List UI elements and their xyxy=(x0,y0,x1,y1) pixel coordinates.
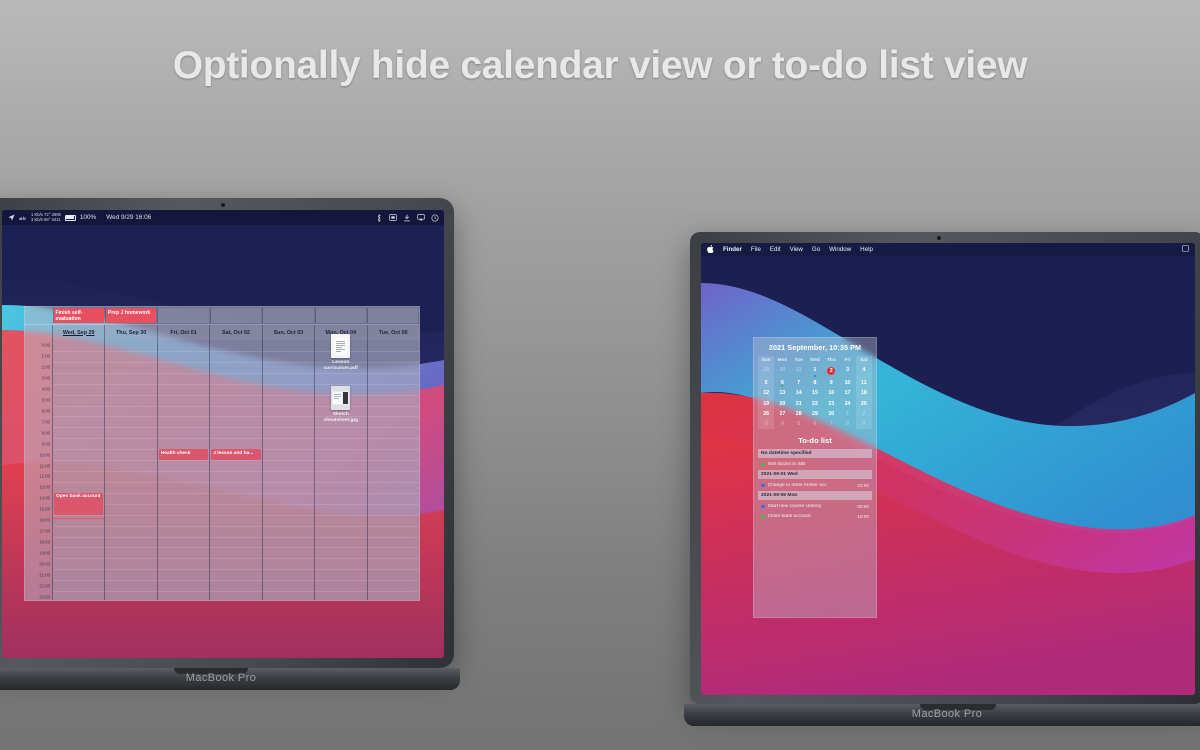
calendar-day-cell[interactable]: 5 xyxy=(758,378,774,388)
allday-cell[interactable] xyxy=(157,308,208,323)
hour-gridline xyxy=(210,395,261,396)
todo-status-dot xyxy=(761,463,765,467)
hour-gridline xyxy=(368,395,419,396)
hour-gridline xyxy=(263,384,314,385)
hour-gridline xyxy=(263,526,314,527)
hour-gridline xyxy=(53,362,104,363)
hour-gridline xyxy=(158,558,209,559)
allday-cell[interactable] xyxy=(315,308,366,323)
hour-gridline xyxy=(210,416,261,417)
calendar-day-cell[interactable]: 1 xyxy=(839,409,855,419)
hour-label: 4:00 xyxy=(42,387,50,392)
hour-gridline xyxy=(315,504,366,505)
calendar-day-cell[interactable]: 5 xyxy=(791,419,807,429)
todo-list-title: To-do list xyxy=(758,436,872,445)
left-macbook: 1 Kb/s 72° 3686 3 Kb/s 68° 3411 100% Wed… xyxy=(0,198,462,698)
hour-gridline xyxy=(368,384,419,385)
hour-label: 12:00 xyxy=(39,474,50,479)
todo-status-dot xyxy=(761,484,765,488)
calendar-day-cell[interactable]: 6 xyxy=(774,378,790,388)
hour-label: 3:00 xyxy=(42,376,50,381)
hour-gridline xyxy=(315,537,366,538)
calendar-column[interactable]: Lesson curriculum.pdf xyxy=(314,340,366,601)
hour-gridline xyxy=(105,471,156,472)
todo-label: Change to other broker acc xyxy=(768,483,855,488)
allday-cell[interactable] xyxy=(367,308,418,323)
image-file-icon xyxy=(331,386,350,410)
menubar-stats-line2: 3 Kb/s 68° 3411 xyxy=(31,218,61,223)
hour-gridline xyxy=(315,493,366,494)
hour-gridline xyxy=(315,384,366,385)
hour-gridline xyxy=(53,449,104,450)
day-header[interactable]: Tue, Oct 05 xyxy=(367,325,419,340)
hour-label: 6:00 xyxy=(42,408,50,413)
hour-gridline xyxy=(368,504,419,505)
attachment-sketch-cheatsheet[interactable]: Sketch cheatsheet.jpg xyxy=(317,386,364,424)
right-brand-label: MacBook Pro xyxy=(684,708,1200,720)
hour-gridline xyxy=(210,515,261,516)
calendar-day-cell[interactable]: 19 xyxy=(758,398,774,408)
hour-gridline xyxy=(263,362,314,363)
left-macbook-base: MacBook Pro xyxy=(0,668,460,690)
todo-section-header: No datetime specified xyxy=(758,449,872,458)
hour-gridline xyxy=(315,526,366,527)
calendar-day-cell[interactable]: 14 xyxy=(791,388,807,398)
menu-finder[interactable]: Finder xyxy=(723,246,742,253)
hour-label: 5:00 xyxy=(42,398,50,403)
hour-gridline xyxy=(210,537,261,538)
calendar-day-cell[interactable]: 31 xyxy=(791,365,807,377)
hour-gridline xyxy=(158,537,209,538)
attachment-lesson-curriculum[interactable]: Lesson curriculum.pdf xyxy=(317,334,364,372)
hour-gridline xyxy=(158,460,209,461)
hour-gridline xyxy=(53,438,104,439)
menu-help[interactable]: Help xyxy=(860,246,873,253)
hour-label: 14:00 xyxy=(39,496,50,501)
mini-calendar[interactable]: SunMonTueWedThuFriSat2930311234567891011… xyxy=(758,356,872,429)
hour-gridline xyxy=(158,493,209,494)
hour-gridline xyxy=(315,449,366,450)
hour-gridline xyxy=(53,558,104,559)
hour-gridline xyxy=(210,493,261,494)
hour-gridline xyxy=(368,493,419,494)
calendar-day-cell[interactable]: 16 xyxy=(823,388,839,398)
hour-gridline xyxy=(158,416,209,417)
hour-label: 10:00 xyxy=(39,452,50,457)
calendar-day-cell[interactable]: 2 xyxy=(823,365,839,377)
hour-gridline xyxy=(105,558,156,559)
allday-event[interactable]: Finish self-evaluation xyxy=(54,308,104,323)
left-macbook-lid: 1 Kb/s 72° 3686 3 Kb/s 68° 3411 100% Wed… xyxy=(0,198,454,668)
hour-gridline xyxy=(210,558,261,559)
attachment-label: Lesson curriculum.pdf xyxy=(317,360,364,372)
hour-label: 8:00 xyxy=(42,430,50,435)
calendar-day-cell[interactable]: 1 xyxy=(807,365,823,377)
calendar-column[interactable]: Health check xyxy=(157,340,209,601)
calendar-column[interactable]: J lesson and ha... xyxy=(209,340,261,601)
hour-gridline xyxy=(210,384,261,385)
calendar-day-cell[interactable]: 30 xyxy=(823,409,839,419)
calendar-day-cell[interactable]: 28 xyxy=(791,409,807,419)
hour-gridline xyxy=(210,591,261,592)
calendar-day-cell[interactable]: 24 xyxy=(839,398,855,408)
hour-gridline xyxy=(368,515,419,516)
hour-gridline xyxy=(368,449,419,450)
hour-label: 16:00 xyxy=(39,518,50,523)
left-screen: 1 Kb/s 72° 3686 3 Kb/s 68° 3411 100% Wed… xyxy=(2,210,444,658)
calendar-column[interactable] xyxy=(262,340,314,601)
allday-cell[interactable] xyxy=(262,308,313,323)
hour-gridline xyxy=(263,547,314,548)
allday-cell[interactable] xyxy=(210,308,261,323)
hour-gridline xyxy=(368,351,419,352)
hour-label: 1:00 xyxy=(42,354,50,359)
hour-gridline xyxy=(263,515,314,516)
hour-gridline xyxy=(158,580,209,581)
hour-gridline xyxy=(315,373,366,374)
todo-time: 10:00 xyxy=(857,514,869,519)
calendar-day-cell[interactable]: 3 xyxy=(839,365,855,377)
hour-gridline xyxy=(210,438,261,439)
hour-gridline xyxy=(105,493,156,494)
hour-label: 11:00 xyxy=(40,463,50,468)
calendar-day-cell[interactable]: 20 xyxy=(774,398,790,408)
calendar-day-cell[interactable]: 10 xyxy=(839,378,855,388)
download-icon[interactable] xyxy=(403,214,411,222)
hour-gridline xyxy=(263,482,314,483)
calendar-day-cell[interactable]: 23 xyxy=(823,398,839,408)
calendar-day-cell[interactable]: 26 xyxy=(758,409,774,419)
panel-month-title: 2021 September, 10:35 PM xyxy=(758,343,872,352)
hour-gridline xyxy=(53,395,104,396)
weekday-header: Sun xyxy=(758,356,774,365)
calendar-day-cell[interactable]: 9 xyxy=(823,378,839,388)
hour-label: 13:00 xyxy=(39,485,50,490)
hour-gridline xyxy=(105,395,156,396)
location-arrow-icon xyxy=(7,214,15,222)
todo-item[interactable]: Start new course Udemy00:00 xyxy=(758,502,872,511)
hour-gridline xyxy=(263,591,314,592)
hour-label: 18:00 xyxy=(39,539,50,544)
hour-gridline xyxy=(53,373,104,374)
hour-gridline xyxy=(158,471,209,472)
hour-gridline xyxy=(368,460,419,461)
hour-gridline xyxy=(158,482,209,483)
hour-gridline xyxy=(158,427,209,428)
hour-gridline xyxy=(368,406,419,407)
hour-gridline xyxy=(210,427,261,428)
hour-gridline xyxy=(315,591,366,592)
hour-gridline xyxy=(368,362,419,363)
hour-label: 9:00 xyxy=(42,441,50,446)
hour-gridline xyxy=(158,351,209,352)
hour-label: 20:00 xyxy=(39,561,50,566)
hour-gridline xyxy=(53,580,104,581)
event-j-lesson[interactable]: J lesson and ha... xyxy=(211,449,260,460)
weekday-header: Mon xyxy=(774,356,790,365)
hour-gridline xyxy=(210,504,261,505)
hour-gridline xyxy=(105,351,156,352)
hour-gridline xyxy=(210,547,261,548)
hour-gridline xyxy=(263,471,314,472)
calendar-day-cell[interactable]: 15 xyxy=(807,388,823,398)
calendar-day-cell[interactable]: 7 xyxy=(791,378,807,388)
hour-label: 23:00 xyxy=(39,594,50,599)
hour-gridline xyxy=(158,504,209,505)
hour-gridline xyxy=(263,351,314,352)
hour-gridline xyxy=(53,416,104,417)
stats-graph-icon xyxy=(19,214,27,222)
day-header[interactable]: Fri, Oct 01 xyxy=(157,325,209,340)
calendar-day-cell[interactable]: 25 xyxy=(856,398,872,408)
hour-gridline xyxy=(210,362,261,363)
todo-list[interactable]: No datetime specifiedSell stocks in SBI2… xyxy=(758,449,872,521)
todo-section-header: 2021-09-01 Wed xyxy=(758,470,872,479)
todo-item[interactable]: Sell stocks in SBI xyxy=(758,460,872,469)
day-header[interactable]: Sun, Oct 03 xyxy=(262,325,314,340)
calendar-day-cell[interactable]: 30 xyxy=(774,365,790,377)
hour-gridline xyxy=(315,547,366,548)
calendar-day-cell[interactable]: 18 xyxy=(856,388,872,398)
hour-gridline xyxy=(315,558,366,559)
hour-gridline xyxy=(158,526,209,527)
calendar-column[interactable]: Open bank account xyxy=(52,340,104,601)
hour-gridline xyxy=(53,537,104,538)
hour-label: 7:00 xyxy=(42,419,50,424)
right-screen: Finder File Edit View Go Window Help 202… xyxy=(701,243,1195,695)
hour-gridline xyxy=(263,449,314,450)
hour-gridline xyxy=(105,460,156,461)
hour-gridline xyxy=(210,406,261,407)
hour-gridline xyxy=(315,471,366,472)
hour-gridline xyxy=(263,580,314,581)
calendar-day-cell[interactable]: 27 xyxy=(774,409,790,419)
hour-gridline xyxy=(315,438,366,439)
hour-gridline xyxy=(105,537,156,538)
hour-gridline xyxy=(105,591,156,592)
calendar-day-cell[interactable]: 17 xyxy=(839,388,855,398)
hour-gridline xyxy=(315,460,366,461)
hour-gridline xyxy=(158,395,209,396)
calendar-day-cell[interactable]: 8 xyxy=(807,378,823,388)
right-macbook-base: MacBook Pro xyxy=(684,704,1200,726)
day-header[interactable]: Wed, Sep 29 xyxy=(52,325,104,340)
hour-gridline xyxy=(105,547,156,548)
calendar-day-cell[interactable]: 9 xyxy=(856,419,872,429)
event-open-bank-account[interactable]: Open bank account xyxy=(54,493,103,515)
control-center-icon[interactable] xyxy=(1182,245,1189,254)
hour-gridline xyxy=(105,373,156,374)
calendar-window[interactable]: Finish self-evaluation Prep J homework W… xyxy=(24,306,420,601)
hour-gridline xyxy=(263,427,314,428)
allday-cell[interactable]: Finish self-evaluation xyxy=(53,308,104,323)
hour-gridline xyxy=(105,515,156,516)
hour-gridline xyxy=(53,591,104,592)
hour-gridline xyxy=(315,580,366,581)
hour-gridline xyxy=(210,526,261,527)
calendar-time-axis: 0:001:002:003:004:005:006:007:008:009:00… xyxy=(25,340,52,601)
calendar-day-cell[interactable]: 8 xyxy=(839,419,855,429)
day-header[interactable]: Thu, Sep 30 xyxy=(104,325,156,340)
weekday-header: Sat xyxy=(856,356,872,365)
calendar-day-cell[interactable]: 4 xyxy=(774,419,790,429)
hour-gridline xyxy=(210,373,261,374)
hour-gridline xyxy=(105,438,156,439)
hour-gridline xyxy=(315,569,366,570)
hour-gridline xyxy=(315,515,366,516)
calendar-day-cell[interactable]: 22 xyxy=(807,398,823,408)
hour-gridline xyxy=(105,362,156,363)
hour-gridline xyxy=(105,416,156,417)
hour-gridline xyxy=(53,547,104,548)
menu-edit[interactable]: Edit xyxy=(770,246,781,253)
page-title: Optionally hide calendar view or to-do l… xyxy=(0,44,1200,88)
hour-gridline xyxy=(368,471,419,472)
hour-gridline xyxy=(368,427,419,428)
allday-cell[interactable]: Prep J homework xyxy=(105,308,156,323)
airplay-icon[interactable] xyxy=(417,214,425,222)
hour-gridline xyxy=(158,515,209,516)
hour-gridline xyxy=(210,569,261,570)
todo-item[interactable]: Change to other broker acc22:00 xyxy=(758,481,872,490)
hour-gridline xyxy=(105,526,156,527)
event-health-check[interactable]: Health check xyxy=(159,449,208,460)
calendar-day-cell[interactable]: 11 xyxy=(856,378,872,388)
hour-gridline xyxy=(210,471,261,472)
hour-gridline xyxy=(53,460,104,461)
hour-label: 17:00 xyxy=(39,529,50,534)
hour-gridline xyxy=(105,569,156,570)
hour-gridline xyxy=(210,351,261,352)
hour-gridline xyxy=(53,569,104,570)
hour-gridline xyxy=(53,427,104,428)
hour-gridline xyxy=(368,537,419,538)
hour-gridline xyxy=(368,569,419,570)
todo-label: Close bank account xyxy=(768,514,855,519)
todo-status-dot xyxy=(761,505,765,509)
hour-gridline xyxy=(263,537,314,538)
hour-gridline xyxy=(368,580,419,581)
calendar-column[interactable] xyxy=(104,340,156,601)
todo-label: Start new course Udemy xyxy=(768,504,855,509)
hour-gridline xyxy=(210,460,261,461)
right-macbook: Finder File Edit View Go Window Help 202… xyxy=(690,232,1200,732)
hour-gridline xyxy=(105,449,156,450)
hour-gridline xyxy=(105,580,156,581)
left-brand-label: MacBook Pro xyxy=(0,672,460,684)
bluetooth-icon[interactable] xyxy=(375,214,383,222)
hour-gridline xyxy=(53,406,104,407)
todo-panel[interactable]: 2021 September, 10:35 PM SunMonTueWedThu… xyxy=(753,337,877,618)
hour-label: 0:00 xyxy=(42,343,50,348)
hour-gridline xyxy=(158,547,209,548)
camera-icon xyxy=(221,203,225,207)
hour-gridline xyxy=(263,373,314,374)
hour-gridline xyxy=(368,438,419,439)
hour-gridline xyxy=(263,438,314,439)
calendar-day-cell[interactable]: 13 xyxy=(774,388,790,398)
hour-gridline xyxy=(158,438,209,439)
hour-gridline xyxy=(368,526,419,527)
right-menubar: Finder File Edit View Go Window Help xyxy=(701,243,1195,256)
hour-label: 2:00 xyxy=(42,365,50,370)
hour-gridline xyxy=(368,482,419,483)
todo-label: Sell stocks in SBI xyxy=(768,462,866,467)
weekday-header: Wed xyxy=(807,356,823,365)
hour-label: 22:00 xyxy=(39,583,50,588)
control-center-icon[interactable] xyxy=(431,214,439,222)
calendar-day-cell[interactable]: 6 xyxy=(807,419,823,429)
menu-window[interactable]: Window xyxy=(829,246,851,253)
apple-menu-icon[interactable] xyxy=(707,245,714,255)
hour-gridline xyxy=(53,515,104,516)
weekday-header: Thu xyxy=(823,356,839,365)
hour-gridline xyxy=(315,427,366,428)
calendar-day-cell[interactable]: 21 xyxy=(791,398,807,408)
calendar-column[interactable] xyxy=(367,340,419,601)
display-icon[interactable] xyxy=(389,214,397,222)
hour-gridline xyxy=(158,384,209,385)
calendar-day-cell[interactable]: 29 xyxy=(758,365,774,377)
calendar-day-cell[interactable]: 4 xyxy=(856,365,872,377)
todo-time: 00:00 xyxy=(857,504,869,509)
hour-gridline xyxy=(53,526,104,527)
hour-label: 19:00 xyxy=(39,550,50,555)
hour-gridline xyxy=(263,558,314,559)
hour-gridline xyxy=(368,373,419,374)
hour-gridline xyxy=(368,547,419,548)
hour-label: 21:00 xyxy=(39,572,50,577)
day-header[interactable]: Sat, Oct 02 xyxy=(209,325,261,340)
allday-event[interactable]: Prep J homework xyxy=(106,308,156,323)
todo-item[interactable]: Close bank account10:00 xyxy=(758,512,872,521)
todo-time: 22:00 xyxy=(857,483,869,488)
hour-gridline xyxy=(158,373,209,374)
calendar-day-cell[interactable]: 3 xyxy=(758,419,774,429)
todo-status-dot xyxy=(761,515,765,519)
calendar-day-cell[interactable]: 29 xyxy=(807,409,823,419)
selected-day: 2 xyxy=(827,367,835,375)
hour-gridline xyxy=(53,482,104,483)
hour-gridline xyxy=(263,395,314,396)
hour-gridline xyxy=(315,482,366,483)
hour-label: 15:00 xyxy=(39,507,50,512)
hour-gridline xyxy=(53,384,104,385)
calendar-day-cell[interactable]: 7 xyxy=(823,419,839,429)
menu-file[interactable]: File xyxy=(751,246,761,253)
hour-gridline xyxy=(263,504,314,505)
hour-gridline xyxy=(263,569,314,570)
weekday-header: Tue xyxy=(791,356,807,365)
right-macbook-lid: Finder File Edit View Go Window Help 202… xyxy=(690,232,1200,704)
attachment-label: Sketch cheatsheet.jpg xyxy=(317,412,364,424)
menu-view[interactable]: View xyxy=(790,246,803,253)
calendar-grid[interactable]: 0:001:002:003:004:005:006:007:008:009:00… xyxy=(25,340,419,601)
hour-gridline xyxy=(105,504,156,505)
hour-gridline xyxy=(105,427,156,428)
hour-gridline xyxy=(368,416,419,417)
menu-go[interactable]: Go xyxy=(812,246,820,253)
hour-gridline xyxy=(210,482,261,483)
calendar-day-cell[interactable]: 2 xyxy=(856,409,872,419)
battery-percent: 100% xyxy=(80,214,96,221)
hour-gridline xyxy=(158,591,209,592)
pdf-file-icon xyxy=(331,334,350,358)
menubar-clock: Wed 9/29 16:06 xyxy=(106,214,151,221)
hour-gridline xyxy=(158,362,209,363)
calendar-day-cell[interactable]: 12 xyxy=(758,388,774,398)
hour-gridline xyxy=(263,406,314,407)
